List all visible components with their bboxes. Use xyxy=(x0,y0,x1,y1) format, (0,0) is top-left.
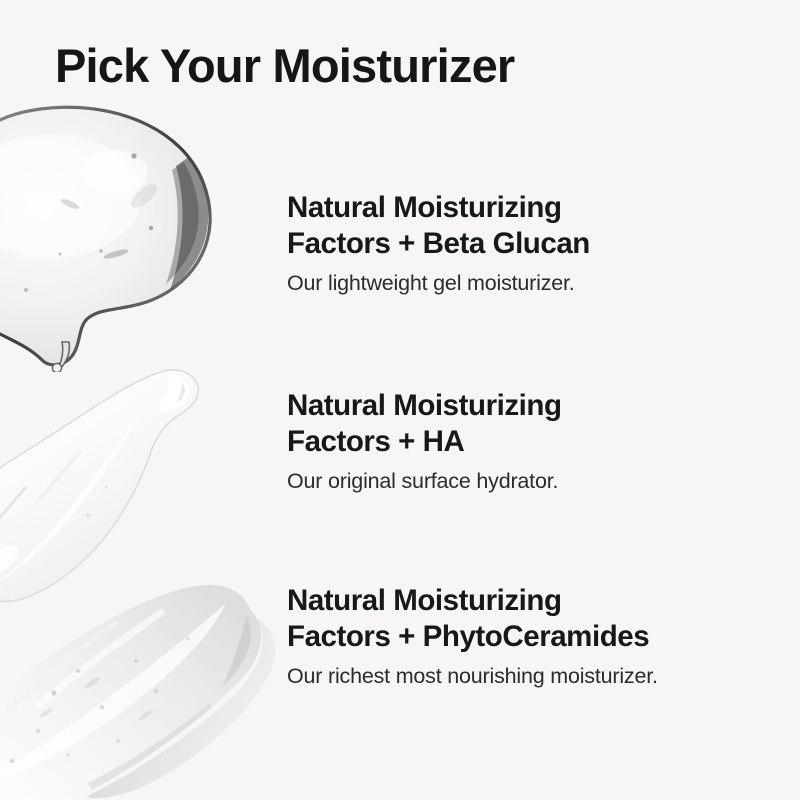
clear-gel-swatch xyxy=(0,104,256,372)
product-heading-line-2: Factors + HA xyxy=(287,425,464,458)
rich-balm-swatch xyxy=(0,565,290,800)
product-item-ha[interactable]: Natural Moisturizing Factors + HA Our or… xyxy=(287,388,757,495)
page-title: Pick Your Moisturizer xyxy=(55,41,514,90)
product-heading-line-2: Factors + Beta Glucan xyxy=(287,227,590,260)
product-subtitle: Our original surface hydrator. xyxy=(287,469,757,495)
product-heading-line-1: Natural Moisturizing xyxy=(287,191,562,224)
product-heading-line-1: Natural Moisturizing xyxy=(287,389,562,422)
product-heading-line-2: Factors + PhytoCeramides xyxy=(287,620,649,653)
product-heading: Natural Moisturizing Factors + HA xyxy=(287,388,757,460)
product-subtitle: Our richest most nourishing moisturizer. xyxy=(287,664,757,690)
product-subtitle: Our lightweight gel moisturizer. xyxy=(287,271,757,297)
product-heading-line-1: Natural Moisturizing xyxy=(287,584,562,617)
product-heading: Natural Moisturizing Factors + Beta Gluc… xyxy=(287,190,757,262)
product-comparison-page: Pick Your Moisturizer xyxy=(0,0,800,800)
product-item-beta-glucan[interactable]: Natural Moisturizing Factors + Beta Gluc… xyxy=(287,190,757,297)
product-item-phytoceramides[interactable]: Natural Moisturizing Factors + PhytoCera… xyxy=(287,583,757,690)
product-heading: Natural Moisturizing Factors + PhytoCera… xyxy=(287,583,757,655)
